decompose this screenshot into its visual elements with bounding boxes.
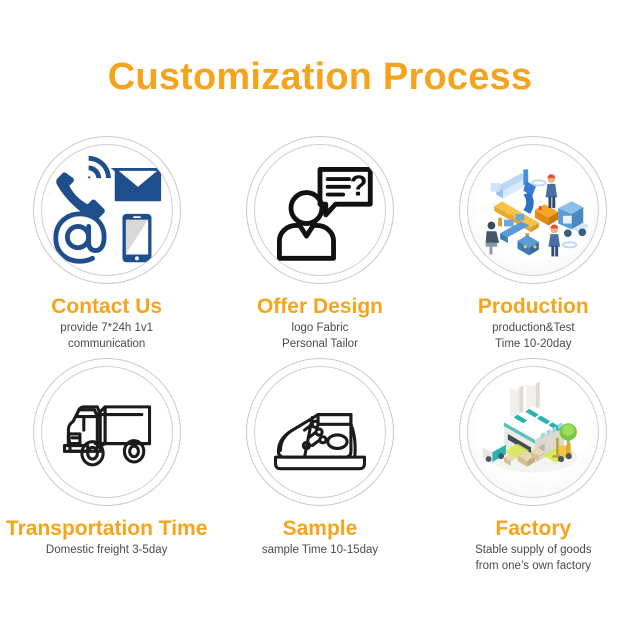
step-ring-inner	[41, 144, 173, 276]
truck-icon	[483, 440, 506, 462]
step-card-contact-us[interactable]: Contact Us provide 7*24h 1v1 communicati…	[7, 136, 207, 352]
step-card-production[interactable]: Production production&Test Time 10-20day	[433, 136, 633, 352]
step-subtitle-line-1: Stable supply of goods	[475, 543, 591, 559]
envelope-icon	[114, 169, 160, 201]
step-title: Factory	[495, 518, 571, 540]
step-subtitle-line-1: logo Fabric	[282, 321, 358, 337]
page-title: Customization Process	[0, 0, 640, 96]
delivery-truck-icon	[558, 201, 589, 237]
step-ring-outer	[246, 358, 394, 506]
contact-icons	[49, 152, 165, 268]
step-ring-outer: ?	[246, 136, 394, 284]
step-subtitle: production&Test Time 10-20day	[492, 321, 574, 352]
accent-ellipse	[532, 180, 546, 185]
step-card-factory[interactable]: Factory Stable supply of goods from one’…	[433, 358, 633, 574]
step-ring-inner: ?	[254, 144, 386, 276]
person-question-bubble-icon: ?	[262, 152, 378, 268]
svg-text:?: ?	[350, 171, 368, 203]
box-truck-icon	[49, 374, 165, 490]
step-ring-inner	[254, 366, 386, 498]
accent-ellipse	[563, 242, 577, 247]
step-ring-outer	[33, 358, 181, 506]
speech-bubble-question-icon: ?	[320, 169, 370, 214]
step-ring-inner	[41, 366, 173, 498]
infographic-page: Customization Process	[0, 0, 640, 640]
step-title: Transportation Time	[6, 518, 207, 540]
step-subtitle-line-2: communication	[60, 337, 153, 353]
factory-building-illustration	[475, 374, 591, 490]
step-ring-inner	[467, 144, 599, 276]
step-title: Offer Design	[257, 296, 383, 318]
step-title: Sample	[283, 518, 358, 540]
step-subtitle-line-1: Domestic freight 3-5day	[46, 543, 167, 559]
phone-ringing-icon	[56, 156, 111, 220]
step-subtitle-line-1: production&Test	[492, 321, 574, 337]
step-ring-outer	[33, 136, 181, 284]
step-subtitle: Stable supply of goods from one’s own fa…	[475, 543, 591, 574]
steps-row-bottom: Transportation Time Domestic freight 3-5…	[0, 358, 640, 574]
step-title: Production	[478, 296, 589, 318]
smartphone-icon	[122, 214, 151, 262]
step-card-transportation-time[interactable]: Transportation Time Domestic freight 3-5…	[7, 358, 207, 559]
steps-row-top: Contact Us provide 7*24h 1v1 communicati…	[0, 136, 640, 352]
step-ring-inner	[467, 366, 599, 498]
step-subtitle-line-2: Time 10-20day	[492, 337, 574, 353]
step-subtitle: sample Time 10-15day	[262, 543, 378, 559]
step-subtitle: Domestic freight 3-5day	[46, 543, 167, 559]
worker-icon	[546, 174, 558, 208]
factory-production-line-illustration	[475, 152, 591, 268]
worker-icon	[549, 225, 561, 257]
step-subtitle: logo Fabric Personal Tailor	[282, 321, 358, 352]
step-subtitle-line-2: from one’s own factory	[475, 559, 591, 575]
step-ring-outer	[459, 358, 607, 506]
step-subtitle: provide 7*24h 1v1 communication	[60, 321, 153, 352]
step-title: Contact Us	[51, 296, 162, 318]
steps-grid: Contact Us provide 7*24h 1v1 communicati…	[0, 136, 640, 574]
step-ring-outer	[459, 136, 607, 284]
boxes-icon	[518, 235, 539, 255]
step-subtitle-line-1: provide 7*24h 1v1	[60, 321, 153, 337]
step-subtitle-line-1: sample Time 10-15day	[262, 543, 378, 559]
step-card-offer-design[interactable]: ? Offer Design logo Fabric Personal Tail…	[220, 136, 420, 352]
step-subtitle-line-2: Personal Tailor	[282, 337, 358, 353]
boot-shoe-icon	[262, 374, 378, 490]
at-sign-icon	[55, 214, 103, 261]
step-card-sample[interactable]: Sample sample Time 10-15day	[220, 358, 420, 559]
